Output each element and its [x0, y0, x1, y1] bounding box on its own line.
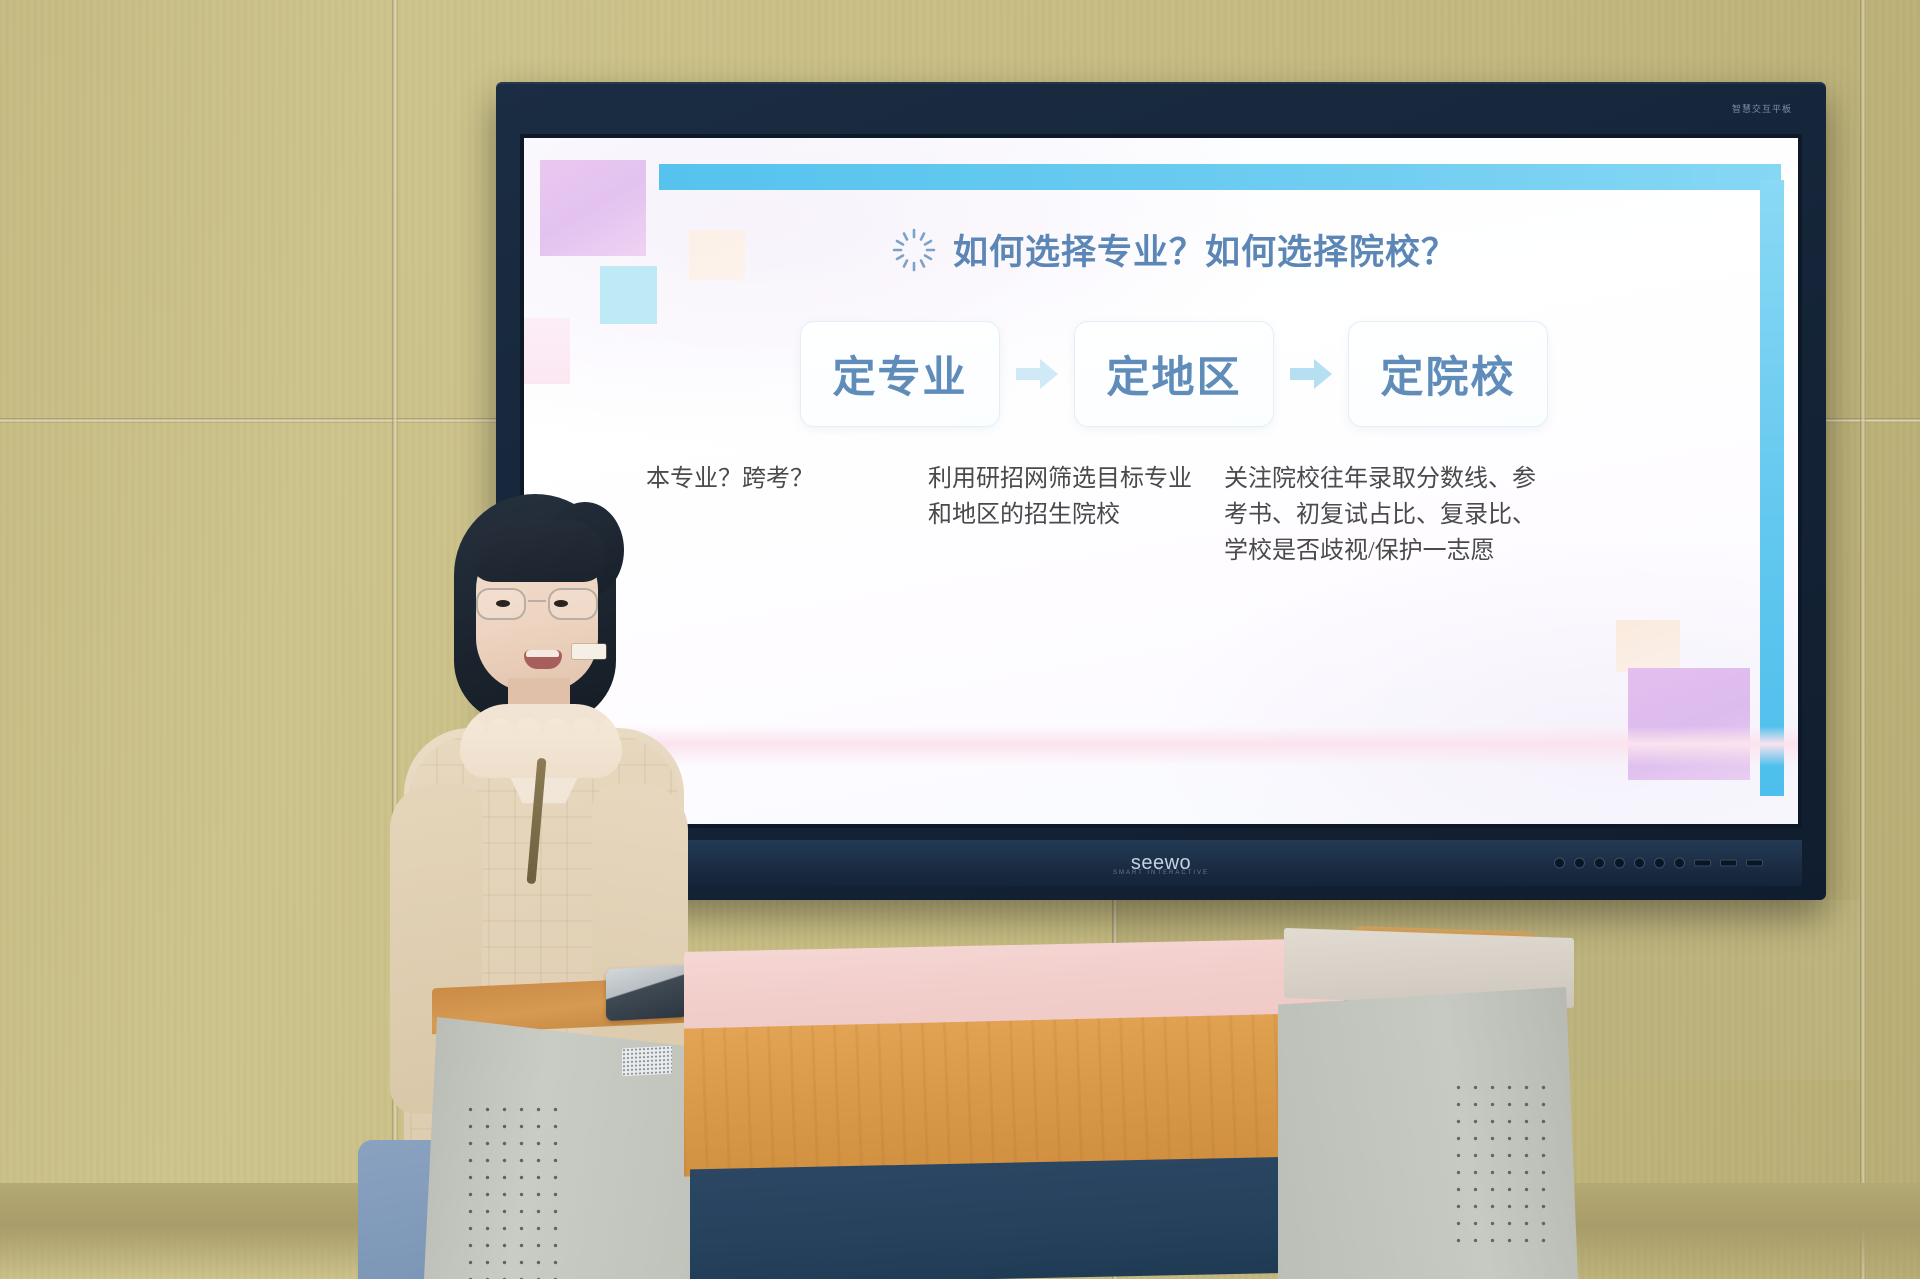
asset-sticker [622, 1046, 672, 1077]
arrow-right-icon-2 [1274, 359, 1348, 389]
glasses-icon [474, 588, 600, 622]
speaker-grille-right [1450, 1079, 1550, 1249]
teeth [526, 650, 559, 657]
bezel-port-2[interactable] [1721, 861, 1736, 866]
step-box-3[interactable]: 定院校 [1348, 321, 1548, 427]
name-tag [572, 644, 606, 659]
steps-row: 定专业 定地区 [642, 321, 1706, 427]
hair-fringe [470, 520, 606, 582]
bezel-port-3[interactable] [1747, 861, 1762, 866]
step-description-2: 利用研招网筛选目标专业和地区的招生院校 [928, 461, 1224, 569]
classroom-scene: 智慧交互平板 [0, 0, 1920, 1279]
wall-seam-vertical-right [1860, 0, 1866, 1279]
slide-title-row: 如何选择专业？如何选择院校？ [642, 224, 1706, 275]
step-descriptions-row: 本专业？跨考？ 利用研招网筛选目标专业和地区的招生院校 关注院校往年录取分数线、… [642, 461, 1706, 569]
step-label-3: 定院校 [1381, 343, 1516, 405]
bezel-button-5[interactable] [1635, 859, 1644, 868]
bezel-button-3[interactable] [1595, 859, 1604, 868]
glasses-bridge [528, 600, 546, 602]
step-label-1: 定专业 [833, 343, 968, 405]
bezel-button-6[interactable] [1655, 859, 1664, 868]
slide-title: 如何选择专业？如何选择院校？ [953, 224, 1457, 275]
smartphone[interactable] [606, 965, 688, 1021]
bezel-controls[interactable] [1555, 859, 1762, 868]
eye-left [496, 600, 510, 607]
speaker-grille-left [462, 1101, 570, 1279]
arrow-right-icon-1 [1000, 359, 1074, 389]
bezel-button-1[interactable] [1555, 859, 1564, 868]
step-box-2[interactable]: 定地区 [1074, 321, 1274, 427]
sparkle-burst-icon [891, 227, 937, 273]
bezel-port-1[interactable] [1695, 861, 1710, 866]
step-box-1[interactable]: 定专业 [800, 321, 1000, 427]
board-model-label: 智慧交互平板 [1732, 102, 1792, 115]
podium-center-wood-panel [684, 1013, 1304, 1176]
podium-center-base [690, 1157, 1298, 1279]
bezel-button-7[interactable] [1675, 859, 1684, 868]
lectern-podium[interactable] [432, 929, 1632, 1279]
seewo-brand-subtitle: SMART INTERACTIVE [1113, 870, 1209, 876]
eye-right [554, 600, 568, 607]
step-description-3: 关注院校往年录取分数线、参考书、初复试占比、复录比、学校是否歧视/保护一志愿 [1224, 461, 1554, 569]
step-label-2: 定地区 [1107, 343, 1242, 405]
bezel-button-2[interactable] [1575, 859, 1584, 868]
bezel-button-4[interactable] [1615, 859, 1624, 868]
